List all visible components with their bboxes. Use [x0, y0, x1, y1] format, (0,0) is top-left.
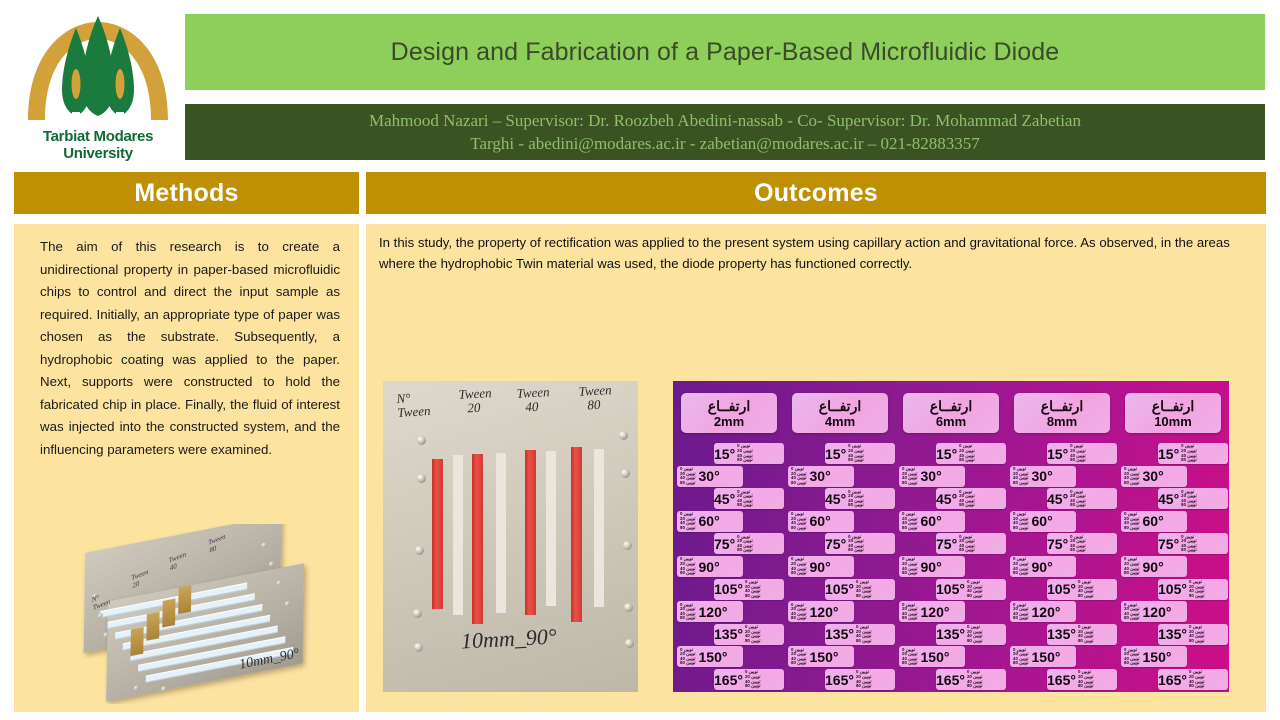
- matrix-cell: 15°0 تویین20 تویین40 تویین80 تویین: [825, 443, 895, 464]
- tween-level-list: 0 تویین20 تویین40 تویین80 تویین: [1123, 603, 1141, 621]
- matrix-cell: 45°0 تویین20 تویین40 تویین80 تویین: [825, 488, 895, 509]
- matrix-cell: 105°0 تویین20 تویین40 تویین80 تویین: [825, 579, 895, 600]
- angle-label: 105°: [825, 582, 854, 596]
- photo-label-t80-2: 80: [587, 398, 601, 413]
- tween-level-list: 0 تویین20 تویین40 تویین80 تویین: [679, 557, 697, 575]
- matrix-column: ارتفــاع10mm15°0 تویین20 تویین40 تویین80…: [1117, 381, 1228, 692]
- matrix-cell: 45°0 تویین20 تویین40 تویین80 تویین: [1047, 488, 1117, 509]
- matrix-cell: 135°0 تویین20 تویین40 تویین80 تویین: [1047, 624, 1117, 645]
- matrix-cell: 15°0 تویین20 تویین40 تویین80 تویین: [936, 443, 1006, 464]
- tween-level: 80 تویین: [1070, 548, 1086, 553]
- tween-level: 80 تویین: [1189, 684, 1205, 689]
- tween-level-list: 0 تویین20 تویین40 تویین80 تویین: [736, 490, 754, 508]
- tween-level: 80 تویین: [1013, 616, 1029, 621]
- matrix-cell: 0 تویین20 تویین40 تویین80 تویین90°: [1010, 556, 1076, 577]
- tween-level: 80 تویین: [680, 571, 696, 576]
- matrix-cell: 0 تویین20 تویین40 تویین80 تویین30°: [899, 466, 965, 487]
- tween-level-list: 0 تویین20 تویین40 تویین80 تویین: [1180, 490, 1198, 508]
- column-header-fa-label: ارتفــاع: [708, 398, 750, 414]
- red-wicking-strip: [432, 459, 443, 609]
- rivet-icon: [417, 474, 426, 483]
- methods-body-text: The aim of this research is to create a …: [40, 236, 340, 461]
- hydrophobic-block: [130, 627, 143, 656]
- tween-level-list: 0 تویین20 تویین40 تویین80 تویین: [847, 535, 865, 553]
- angle-label: 15°: [1158, 447, 1179, 461]
- column-header-height-value: 10mm: [1154, 414, 1192, 429]
- page-title: Design and Fabrication of a Paper-Based …: [391, 38, 1060, 67]
- hydrophobic-block: [178, 585, 191, 614]
- angle-label: 90°: [921, 560, 942, 574]
- matrix-cell: 0 تویین20 تویین40 تویین80 تویین90°: [677, 556, 743, 577]
- tween-level-list: 0 تویین20 تویین40 تویین80 تویین: [966, 670, 984, 688]
- tween-level-list: 0 تویین20 تویین40 تویین80 تویین: [855, 625, 873, 643]
- rivet-icon: [621, 469, 630, 478]
- section-header-methods: Methods: [14, 172, 359, 214]
- tween-level: 80 تویین: [902, 616, 918, 621]
- matrix-cell: 0 تویین20 تویین40 تویین80 تویین120°: [788, 601, 854, 622]
- red-wicking-strip: [571, 447, 582, 622]
- tween-level-list: 0 تویین20 تویین40 تویین80 تویین: [1077, 625, 1095, 643]
- tween-level-list: 0 تویین20 تویین40 تویین80 تویین: [744, 625, 762, 643]
- angle-label: 120°: [699, 605, 728, 619]
- column-header-height-value: 6mm: [936, 414, 966, 429]
- matrix-cell: 0 تویین20 تویین40 تویین80 تویین90°: [1121, 556, 1187, 577]
- tween-level-list: 0 تویین20 تویین40 تویین80 تویین: [901, 603, 919, 621]
- tween-level: 80 تویین: [680, 661, 696, 666]
- blank-strip: [594, 449, 604, 607]
- blank-strip: [453, 455, 463, 615]
- tween-level-list: 0 تویین20 تویین40 تویین80 تویین: [1180, 535, 1198, 553]
- matrix-cell: 15°0 تویین20 تویین40 تویین80 تویین: [1158, 443, 1228, 464]
- tween-level-list: 0 تویین20 تویین40 تویین80 تویین: [1012, 557, 1030, 575]
- matrix-cell: 45°0 تویین20 تویین40 تویین80 تویین: [936, 488, 1006, 509]
- column-header-fa-label: ارتفــاع: [930, 398, 972, 414]
- tween-level: 80 تویین: [902, 571, 918, 576]
- matrix-cell: 0 تویین20 تویین40 تویین80 تویین120°: [1010, 601, 1076, 622]
- angle-label: 30°: [699, 469, 720, 483]
- tween-level: 80 تویین: [967, 684, 983, 689]
- tween-level: 80 تویین: [1078, 639, 1094, 644]
- tween-level: 80 تویین: [902, 481, 918, 486]
- tween-level: 80 تویین: [745, 639, 761, 644]
- tween-level: 80 تویین: [856, 594, 872, 599]
- column-header-height: ارتفــاع2mm: [681, 393, 777, 433]
- tween-level-list: 0 تویین20 تویین40 تویین80 تویین: [1069, 444, 1087, 462]
- tween-level-list: 0 تویین20 تویین40 تویین80 تویین: [901, 467, 919, 485]
- authors-bar: Mahmood Nazari – Supervisor: Dr. Roozbeh…: [185, 104, 1265, 160]
- tween-level: 80 تویین: [1189, 639, 1205, 644]
- hydrophobic-block: [162, 598, 175, 627]
- chip-3d-render: N° Tween Tween 20 Tween 40 Tween 80 10mm…: [54, 524, 354, 704]
- matrix-cell: 0 تویین20 تویین40 تویین80 تویین30°: [788, 466, 854, 487]
- angle-label: 90°: [810, 560, 831, 574]
- rivet-icon: [624, 603, 633, 612]
- tween-level-list: 0 تویین20 تویین40 تویین80 تویین: [958, 490, 976, 508]
- matrix-cell: 0 تویین20 تویین40 تویین80 تویین60°: [1121, 511, 1187, 532]
- matrix-cell: 105°0 تویین20 تویین40 تویین80 تویین: [714, 579, 784, 600]
- rivet-icon: [414, 643, 423, 652]
- tween-level: 80 تویین: [1013, 571, 1029, 576]
- matrix-cell: 0 تویین20 تویین40 تویین80 تویین60°: [788, 511, 854, 532]
- matrix-cell: 75°0 تویین20 تویین40 تویین80 تویین: [936, 533, 1006, 554]
- angle-label: 15°: [936, 447, 957, 461]
- tween-level: 80 تویین: [1013, 661, 1029, 666]
- matrix-cell: 0 تویین20 تویین40 تویین80 تویین150°: [1010, 646, 1076, 667]
- angle-label: 150°: [1143, 650, 1172, 664]
- tween-level-list: 0 تویین20 تویین40 تویین80 تویین: [847, 490, 865, 508]
- tween-level: 80 تویین: [959, 458, 975, 463]
- angle-label: 30°: [810, 469, 831, 483]
- tween-level-list: 0 تویین20 تویین40 تویین80 تویین: [744, 580, 762, 598]
- tween-level: 80 تویین: [1124, 481, 1140, 486]
- angle-label: 165°: [1158, 673, 1187, 687]
- matrix-cell: 135°0 تویین20 تویین40 تویین80 تویین: [825, 624, 895, 645]
- tween-level: 80 تویین: [1124, 571, 1140, 576]
- rivet-icon: [415, 546, 424, 555]
- tween-level-list: 0 تویین20 تویین40 تویین80 تویین: [1012, 603, 1030, 621]
- matrix-cell: 0 تویین20 تویین40 تویین80 تویین120°: [899, 601, 965, 622]
- tween-level: 80 تویین: [1013, 526, 1029, 531]
- tween-level: 80 تویین: [1124, 526, 1140, 531]
- tween-level: 80 تویین: [680, 616, 696, 621]
- angle-label: 165°: [936, 673, 965, 687]
- column-header-fa-label: ارتفــاع: [1041, 398, 1083, 414]
- matrix-cell: 0 تویین20 تویین40 تویین80 تویین30°: [1010, 466, 1076, 487]
- tween-level: 80 تویین: [1181, 548, 1197, 553]
- tween-level: 80 تویین: [1181, 503, 1197, 508]
- tween-level: 80 تویین: [902, 526, 918, 531]
- matrix-cell: 0 تویین20 تویین40 تویین80 تویین60°: [1010, 511, 1076, 532]
- angle-label: 30°: [1032, 469, 1053, 483]
- tween-level-list: 0 تویین20 تویین40 تویین80 تویین: [1188, 580, 1206, 598]
- photo-label-t20-2: 20: [467, 401, 481, 416]
- tween-level-list: 0 تویین20 تویین40 تویین80 تویین: [958, 535, 976, 553]
- matrix-cell: 75°0 تویین20 تویین40 تویین80 تویین: [714, 533, 784, 554]
- angle-label: 75°: [714, 537, 735, 551]
- tween-level-list: 0 تویین20 تویین40 تویین80 تویین: [966, 625, 984, 643]
- rivet-icon: [625, 639, 634, 648]
- tween-level-list: 0 تویین20 تویین40 تویین80 تویین: [736, 444, 754, 462]
- matrix-cell: 165°0 تویین20 تویین40 تویین80 تویین: [1047, 669, 1117, 690]
- angle-label: 135°: [1047, 627, 1076, 641]
- methods-panel: The aim of this research is to create a …: [14, 224, 359, 712]
- tween-level-list: 0 تویین20 تویین40 تویین80 تویین: [901, 648, 919, 666]
- tween-level-list: 0 تویین20 تویین40 تویین80 تویین: [1123, 648, 1141, 666]
- red-wicking-strip: [472, 454, 483, 624]
- column-header-height: ارتفــاع8mm: [1014, 393, 1110, 433]
- tween-level: 80 تویین: [680, 526, 696, 531]
- matrix-cell: 0 تویین20 تویین40 تویین80 تویین30°: [677, 466, 743, 487]
- tween-level: 80 تویین: [737, 458, 753, 463]
- tween-level: 80 تویین: [848, 503, 864, 508]
- angle-label: 45°: [1047, 492, 1068, 506]
- angle-label: 90°: [699, 560, 720, 574]
- angle-label: 90°: [1032, 560, 1053, 574]
- tween-level: 80 تویین: [959, 503, 975, 508]
- section-header-outcomes: Outcomes: [366, 172, 1266, 214]
- tween-level: 80 تویین: [791, 661, 807, 666]
- angle-label: 165°: [714, 673, 743, 687]
- matrix-cell: 135°0 تویین20 تویین40 تویین80 تویین: [936, 624, 1006, 645]
- rivet-icon: [619, 431, 628, 440]
- matrix-cell: 0 تویین20 تویین40 تویین80 تویین150°: [788, 646, 854, 667]
- angle-label: 165°: [825, 673, 854, 687]
- matrix-cell: 0 تویین20 تویین40 تویین80 تویین60°: [677, 511, 743, 532]
- angle-label: 135°: [714, 627, 743, 641]
- matrix-cell: 75°0 تویین20 تویین40 تویین80 تویین: [1158, 533, 1228, 554]
- tween-level-list: 0 تویین20 تویین40 تویین80 تویین: [901, 512, 919, 530]
- angle-label: 60°: [699, 514, 720, 528]
- university-logo: Tarbiat Modares University: [18, 8, 178, 166]
- tween-level: 80 تویین: [1181, 458, 1197, 463]
- tween-level-list: 0 تویین20 تویین40 تویین80 تویین: [1012, 512, 1030, 530]
- column-header-height-value: 8mm: [1047, 414, 1077, 429]
- angle-label: 30°: [1143, 469, 1164, 483]
- column-header-height: ارتفــاع10mm: [1125, 393, 1221, 433]
- matrix-cell: 75°0 تویین20 تویین40 تویین80 تویین: [825, 533, 895, 554]
- tween-level-list: 0 تویین20 تویین40 تویین80 تویین: [1077, 670, 1095, 688]
- logo-line-2: University: [18, 146, 178, 162]
- matrix-cell: 45°0 تویین20 تویین40 تویین80 تویین: [714, 488, 784, 509]
- tween-level-list: 0 تویین20 تویین40 تویین80 تویین: [958, 444, 976, 462]
- tween-level-list: 0 تویین20 تویین40 تویین80 تویین: [744, 670, 762, 688]
- rivet-icon: [413, 609, 422, 618]
- tween-level-list: 0 تویین20 تویین40 تویین80 تویین: [855, 580, 873, 598]
- angle-label: 150°: [921, 650, 950, 664]
- tween-level: 80 تویین: [791, 571, 807, 576]
- tween-level: 80 تویین: [902, 661, 918, 666]
- rivet-icon: [623, 541, 632, 550]
- angle-label: 120°: [921, 605, 950, 619]
- photo-label-no-tween-2: Tween: [397, 403, 431, 420]
- tween-level: 80 تویین: [856, 639, 872, 644]
- matrix-cell: 0 تویین20 تویین40 تویین80 تویین150°: [899, 646, 965, 667]
- angle-label: 60°: [810, 514, 831, 528]
- tween-level: 80 تویین: [967, 639, 983, 644]
- tween-level: 80 تویین: [791, 481, 807, 486]
- column-header-height: ارتفــاع4mm: [792, 393, 888, 433]
- tween-level: 80 تویین: [1070, 503, 1086, 508]
- angle-label: 150°: [699, 650, 728, 664]
- angle-label: 75°: [825, 537, 846, 551]
- matrix-cell: 105°0 تویین20 تویین40 تویین80 تویین: [1158, 579, 1228, 600]
- section-title-outcomes: Outcomes: [754, 179, 878, 208]
- tween-level-list: 0 تویین20 تویین40 تویین80 تویین: [679, 467, 697, 485]
- tween-level-list: 0 تویین20 تویین40 تویین80 تویین: [966, 580, 984, 598]
- angle-label: 60°: [1032, 514, 1053, 528]
- angle-label: 135°: [825, 627, 854, 641]
- tween-level-list: 0 تویین20 تویین40 تویین80 تویین: [679, 603, 697, 621]
- angle-label: 135°: [1158, 627, 1187, 641]
- matrix-cell: 15°0 تویین20 تویین40 تویین80 تویین: [1047, 443, 1117, 464]
- tween-level-list: 0 تویین20 تویین40 تویین80 تویین: [1012, 648, 1030, 666]
- logo-line-1: Tarbiat Modares: [18, 129, 178, 145]
- tween-level-list: 0 تویین20 تویین40 تویین80 تویین: [1123, 467, 1141, 485]
- rivet-icon: [417, 436, 426, 445]
- tween-level-list: 0 تویین20 تویین40 تویین80 تویین: [1188, 670, 1206, 688]
- angle-label: 165°: [1047, 673, 1076, 687]
- tween-level: 80 تویین: [1070, 458, 1086, 463]
- column-header-height-value: 4mm: [825, 414, 855, 429]
- matrix-cell: 165°0 تویین20 تویین40 تویین80 تویین: [1158, 669, 1228, 690]
- tween-level: 80 تویین: [856, 684, 872, 689]
- angle-label: 60°: [921, 514, 942, 528]
- tween-level-list: 0 تویین20 تویین40 تویین80 تویین: [790, 603, 808, 621]
- tween-level: 80 تویین: [1013, 481, 1029, 486]
- angle-label: 60°: [1143, 514, 1164, 528]
- height-angle-matrix-figure: ارتفــاع2mm15°0 تویین20 تویین40 تویین80 …: [673, 381, 1229, 692]
- matrix-column: ارتفــاع4mm15°0 تویین20 تویین40 تویین80 …: [784, 381, 895, 692]
- matrix-cell: 0 تویین20 تویین40 تویین80 تویین90°: [899, 556, 965, 577]
- photo-caption: 10mm_90°: [460, 624, 557, 655]
- matrix-cell: 0 تویین20 تویین40 تویین80 تویین90°: [788, 556, 854, 577]
- matrix-cell: 165°0 تویین20 تویین40 تویین80 تویین: [714, 669, 784, 690]
- matrix-column: ارتفــاع8mm15°0 تویین20 تویین40 تویین80 …: [1006, 381, 1117, 692]
- tween-level-list: 0 تویین20 تویین40 تویین80 تویین: [679, 512, 697, 530]
- poster-title-bar: Design and Fabrication of a Paper-Based …: [185, 14, 1265, 90]
- matrix-cell: 0 تویین20 تویین40 تویین80 تویین30°: [1121, 466, 1187, 487]
- tween-level: 80 تویین: [745, 684, 761, 689]
- tween-level: 80 تویین: [967, 594, 983, 599]
- section-title-methods: Methods: [134, 179, 238, 208]
- angle-label: 105°: [1047, 582, 1076, 596]
- angle-label: 105°: [1158, 582, 1187, 596]
- tween-level: 80 تویین: [680, 481, 696, 486]
- matrix-cell: 0 تویین20 تویین40 تویین80 تویین120°: [1121, 601, 1187, 622]
- blank-strip: [496, 453, 506, 613]
- tween-level: 80 تویین: [791, 526, 807, 531]
- matrix-cell: 135°0 تویین20 تویین40 تویین80 تویین: [1158, 624, 1228, 645]
- experiment-photo: N° Tween Tween 20 Tween 40 Tween 80: [383, 381, 638, 692]
- column-header-height-value: 2mm: [714, 414, 744, 429]
- hydrophobic-block: [146, 612, 159, 641]
- angle-label: 120°: [1032, 605, 1061, 619]
- tween-level: 80 تویین: [1124, 661, 1140, 666]
- tween-level-list: 0 تویین20 تویین40 تویین80 تویین: [790, 557, 808, 575]
- tween-level-list: 0 تویین20 تویین40 تویین80 تویین: [847, 444, 865, 462]
- matrix-cell: 105°0 تویین20 تویین40 تویین80 تویین: [936, 579, 1006, 600]
- angle-label: 45°: [936, 492, 957, 506]
- matrix-cell: 0 تویین20 تویین40 تویین80 تویین60°: [899, 511, 965, 532]
- tween-level: 80 تویین: [737, 503, 753, 508]
- column-header-fa-label: ارتفــاع: [819, 398, 861, 414]
- tween-level: 80 تویین: [737, 548, 753, 553]
- tween-level-list: 0 تویین20 تویین40 تویین80 تویین: [901, 557, 919, 575]
- matrix-cell: 45°0 تویین20 تویین40 تویین80 تویین: [1158, 488, 1228, 509]
- tween-level: 80 تویین: [745, 594, 761, 599]
- red-wicking-strip: [525, 450, 536, 615]
- chip-plate-assembly: N° Tween Tween 20 Tween 40 Tween 80: [83, 524, 297, 704]
- angle-label: 45°: [1158, 492, 1179, 506]
- matrix-cell: 15°0 تویین20 تویین40 تویین80 تویین: [714, 443, 784, 464]
- tween-level-list: 0 تویین20 تویین40 تویین80 تویین: [1069, 490, 1087, 508]
- angle-label: 30°: [921, 469, 942, 483]
- angle-label: 75°: [936, 537, 957, 551]
- tween-level-list: 0 تویین20 تویین40 تویین80 تویین: [1123, 512, 1141, 530]
- matrix-cell: 75°0 تویین20 تویین40 تویین80 تویین: [1047, 533, 1117, 554]
- matrix-cell: 0 تویین20 تویین40 تویین80 تویین150°: [677, 646, 743, 667]
- tween-level-list: 0 تویین20 تویین40 تویین80 تویین: [790, 648, 808, 666]
- matrix-cell: 165°0 تویین20 تویین40 تویین80 تویین: [936, 669, 1006, 690]
- tween-level-list: 0 تویین20 تویین40 تویین80 تویین: [1180, 444, 1198, 462]
- tween-level-list: 0 تویین20 تویین40 تویین80 تویین: [1123, 557, 1141, 575]
- tween-level: 80 تویین: [1078, 594, 1094, 599]
- column-header-height: ارتفــاع6mm: [903, 393, 999, 433]
- angle-label: 75°: [1158, 537, 1179, 551]
- poster-root: Tarbiat Modares University Design and Fa…: [0, 0, 1280, 720]
- matrix-cell: 0 تویین20 تویین40 تویین80 تویین150°: [1121, 646, 1187, 667]
- tween-level-list: 0 تویین20 تویین40 تویین80 تویین: [736, 535, 754, 553]
- tween-level-list: 0 تویین20 تویین40 تویین80 تویین: [790, 467, 808, 485]
- angle-label: 15°: [714, 447, 735, 461]
- screw-icon: [161, 686, 166, 692]
- tween-level: 80 تویین: [1124, 616, 1140, 621]
- matrix-column: ارتفــاع6mm15°0 تویین20 تویین40 تویین80 …: [895, 381, 1006, 692]
- authors-line-1: Mahmood Nazari – Supervisor: Dr. Roozbeh…: [369, 109, 1081, 132]
- tween-level: 80 تویین: [848, 548, 864, 553]
- matrix-cell: 0 تویین20 تویین40 تویین80 تویین120°: [677, 601, 743, 622]
- angle-label: 45°: [825, 492, 846, 506]
- angle-label: 120°: [810, 605, 839, 619]
- column-header-fa-label: ارتفــاع: [1152, 398, 1194, 414]
- angle-label: 75°: [1047, 537, 1068, 551]
- matrix-column: ارتفــاع2mm15°0 تویین20 تویین40 تویین80 …: [673, 381, 784, 692]
- tween-level: 80 تویین: [848, 458, 864, 463]
- angle-label: 15°: [825, 447, 846, 461]
- angle-label: 105°: [714, 582, 743, 596]
- tween-level-list: 0 تویین20 تویین40 تویین80 تویین: [1188, 625, 1206, 643]
- photo-label-t40-2: 40: [525, 400, 539, 415]
- tween-level: 80 تویین: [959, 548, 975, 553]
- angle-label: 150°: [1032, 650, 1061, 664]
- matrix-cell: 165°0 تویین20 تویین40 تویین80 تویین: [825, 669, 895, 690]
- angle-label: 105°: [936, 582, 965, 596]
- tween-level-list: 0 تویین20 تویین40 تویین80 تویین: [1012, 467, 1030, 485]
- matrix-cell: 105°0 تویین20 تویین40 تویین80 تویین: [1047, 579, 1117, 600]
- angle-label: 45°: [714, 492, 735, 506]
- angle-label: 120°: [1143, 605, 1172, 619]
- angle-label: 90°: [1143, 560, 1164, 574]
- tween-level: 80 تویین: [791, 616, 807, 621]
- angle-label: 15°: [1047, 447, 1068, 461]
- angle-label: 150°: [810, 650, 839, 664]
- tween-level: 80 تویین: [1189, 594, 1205, 599]
- tween-level-list: 0 تویین20 تویین40 تویین80 تویین: [679, 648, 697, 666]
- matrix-cell: 135°0 تویین20 تویین40 تویین80 تویین: [714, 624, 784, 645]
- blank-strip: [546, 451, 556, 606]
- tween-level-list: 0 تویین20 تویین40 تویین80 تویین: [1069, 535, 1087, 553]
- tween-level: 80 تویین: [1078, 684, 1094, 689]
- tween-level-list: 0 تویین20 تویین40 تویین80 تویین: [1077, 580, 1095, 598]
- authors-line-2: Targhi - abedini@modares.ac.ir - zabetia…: [470, 132, 979, 155]
- angle-label: 135°: [936, 627, 965, 641]
- outcomes-body-text: In this study, the property of rectifica…: [379, 232, 1257, 274]
- tween-level-list: 0 تویین20 تویین40 تویین80 تویین: [855, 670, 873, 688]
- tween-level-list: 0 تویین20 تویین40 تویین80 تویین: [790, 512, 808, 530]
- logo-mark-icon: [18, 8, 178, 128]
